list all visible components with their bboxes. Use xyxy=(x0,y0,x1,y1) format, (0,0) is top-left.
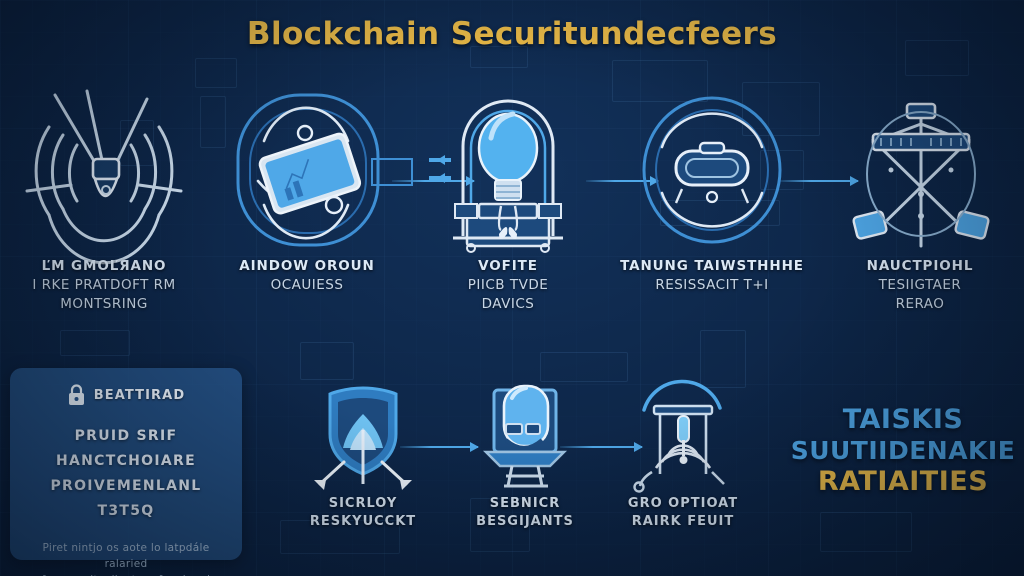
vignette-overlay xyxy=(0,0,1024,576)
infographic-canvas: Blockchain Securitundecfeers xyxy=(0,0,1024,576)
